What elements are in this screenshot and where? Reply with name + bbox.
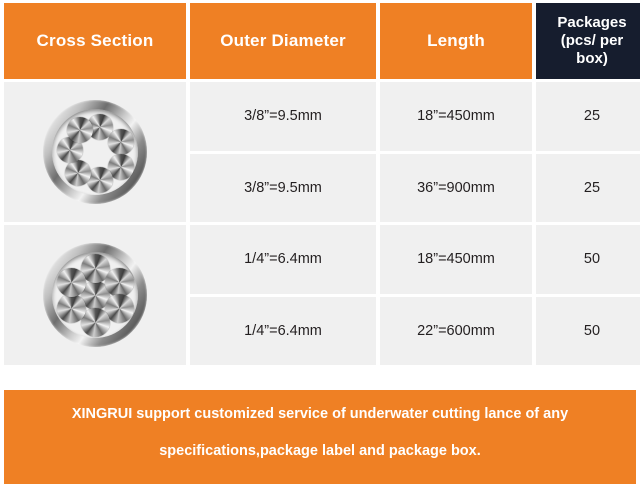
- column-header-length: Length: [380, 3, 532, 79]
- outer-diameter-value: 3/8”=9.5mm: [190, 82, 376, 151]
- table-header-row: Cross Section Outer Diameter Length Pack…: [4, 3, 640, 79]
- wire-bundle-ring-7-hollow-icon: [43, 100, 147, 204]
- specification-table: Cross Section Outer Diameter Length Pack…: [0, 0, 640, 368]
- outer-diameter-value: 1/4”=6.4mm: [190, 297, 376, 366]
- outer-diameter-value: 1/4”=6.4mm: [190, 225, 376, 294]
- column-header-packages: Packages (pcs/ per box): [536, 3, 640, 79]
- banner-line-1: XINGRUI support customized service of un…: [18, 396, 622, 433]
- column-header-outer-diameter: Outer Diameter: [190, 3, 376, 79]
- wire-bundle-hex-7-packed-icon: [43, 243, 147, 347]
- customization-banner: XINGRUI support customized service of un…: [4, 390, 636, 484]
- column-header-packages-line1: Packages: [557, 14, 626, 31]
- column-header-cross-section: Cross Section: [4, 3, 186, 79]
- table-row: 3/8”=9.5mm 18”=450mm 25: [4, 82, 640, 151]
- banner-line-2: specifications,package label and package…: [18, 433, 622, 470]
- length-value: 36”=900mm: [380, 154, 532, 223]
- packages-value: 25: [536, 154, 640, 223]
- cross-section-cell-group-1: [4, 82, 186, 222]
- spec-sheet: Cross Section Outer Diameter Length Pack…: [0, 0, 640, 491]
- length-value: 18”=450mm: [380, 225, 532, 294]
- outer-diameter-value: 3/8”=9.5mm: [190, 154, 376, 223]
- cross-section-cell-group-2: [4, 225, 186, 365]
- packages-value: 50: [536, 297, 640, 366]
- length-value: 18”=450mm: [380, 82, 532, 151]
- packages-value: 25: [536, 82, 640, 151]
- packages-value: 50: [536, 225, 640, 294]
- length-value: 22”=600mm: [380, 297, 532, 366]
- column-header-packages-line3: box): [576, 50, 608, 67]
- column-header-packages-line2: (pcs/ per: [561, 32, 624, 49]
- table-row: 1/4”=6.4mm 18”=450mm 50: [4, 225, 640, 294]
